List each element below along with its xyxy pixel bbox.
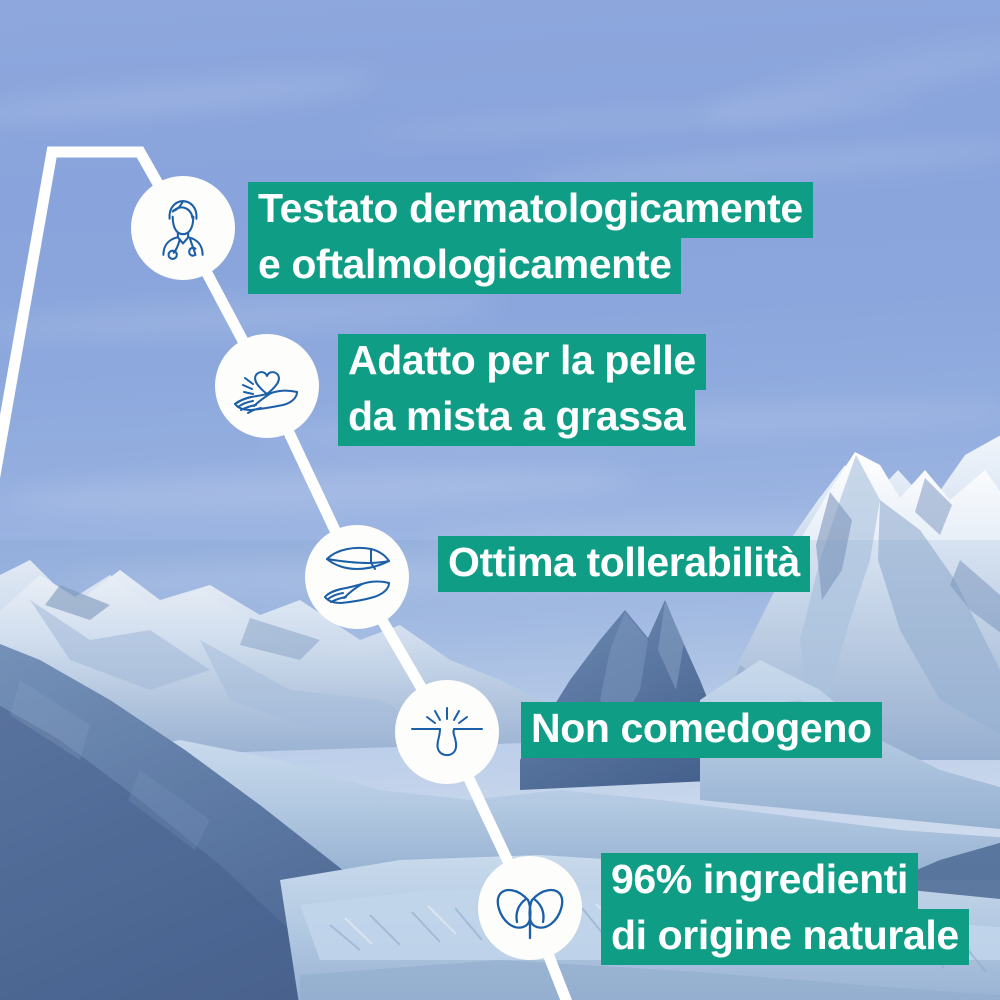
benefit-icon-bubble-suitable-for-skin[interactable] bbox=[215, 334, 319, 438]
benefit-label-line: Ottima tollerabilità bbox=[438, 536, 810, 592]
benefit-label-line: Testato dermatologicamente bbox=[248, 182, 813, 238]
benefit-icon-bubble-tolerability[interactable] bbox=[305, 525, 409, 629]
benefit-label-tolerability: Ottima tollerabilità bbox=[438, 536, 810, 592]
benefit-icon-bubble-dermatologically-tested[interactable] bbox=[131, 176, 235, 280]
benefit-label-line: Adatto per la pelle bbox=[338, 334, 706, 390]
infographic-canvas: Testato dermatologicamente e oftalmologi… bbox=[0, 0, 1000, 1000]
feather-hand-icon bbox=[321, 543, 393, 611]
benefit-icon-bubble-natural-ingredients[interactable] bbox=[478, 856, 582, 960]
benefit-label-dermatologically-tested: Testato dermatologicamente e oftalmologi… bbox=[248, 182, 813, 294]
benefit-label-line: di origine naturale bbox=[601, 909, 969, 965]
skin-pore-icon bbox=[410, 705, 484, 759]
benefit-label-suitable-for-skin: Adatto per la pelle da mista a grassa bbox=[338, 334, 706, 446]
benefit-label-line: e oftalmologicamente bbox=[248, 238, 681, 294]
benefit-label-natural-ingredients: 96% ingredienti di origine naturale bbox=[601, 853, 969, 965]
benefit-label-line: da mista a grassa bbox=[338, 390, 695, 446]
benefit-label-line: 96% ingredienti bbox=[601, 853, 918, 909]
two-leaves-icon bbox=[495, 876, 565, 940]
connector-path bbox=[0, 0, 1000, 1000]
hand-heart-icon bbox=[231, 353, 303, 419]
benefit-icon-bubble-non-comedogenic[interactable] bbox=[395, 680, 499, 784]
doctor-stethoscope-icon bbox=[150, 195, 216, 261]
benefit-label-line: Non comedogeno bbox=[521, 702, 882, 758]
benefit-label-non-comedogenic: Non comedogeno bbox=[521, 702, 882, 758]
